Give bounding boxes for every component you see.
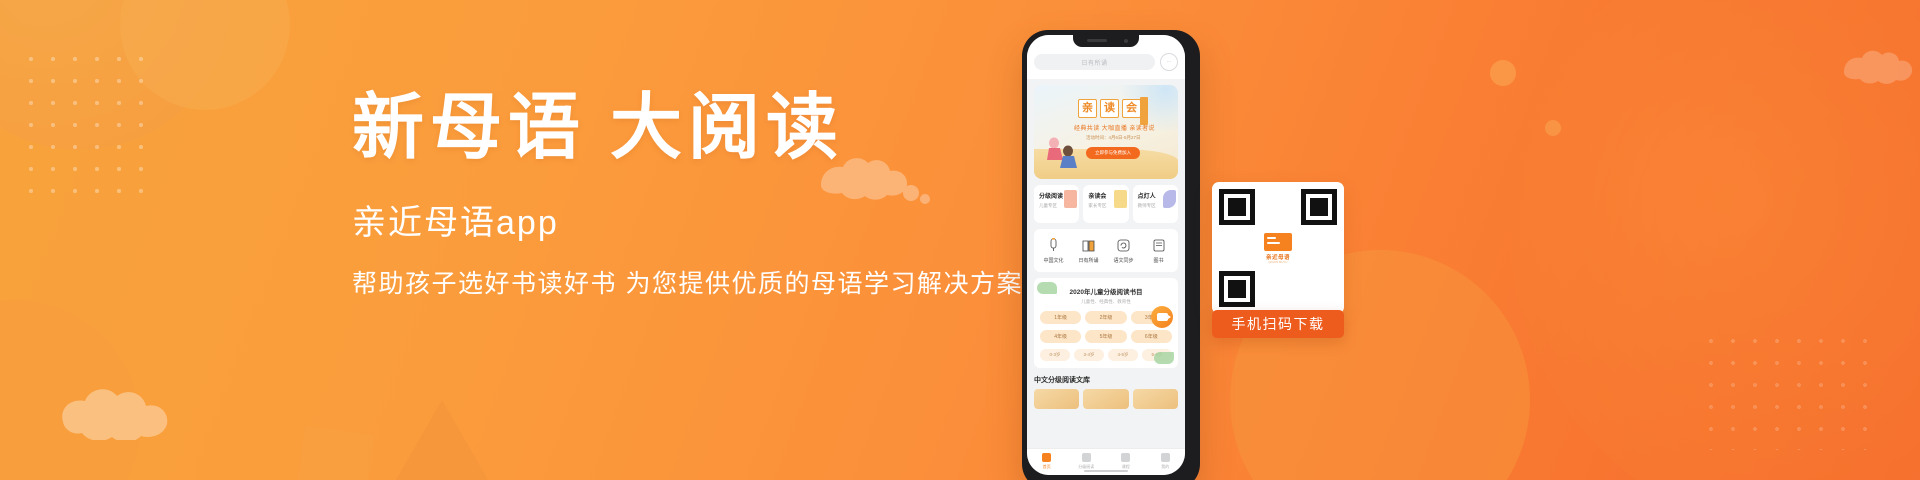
cloud-scroll-bottom-icon [55,370,205,440]
refresh-icon [1106,237,1141,253]
user-icon [1161,453,1170,462]
qr-center-logo: 亲近母语 QINJIN MUYU [1259,230,1297,266]
grade-chip[interactable]: 6年级 [1131,330,1172,343]
quick-nav: 中国文化 日有所诵 语文同步 [1034,229,1178,272]
hero-children-illustration [1040,125,1086,173]
book-open-icon [1071,237,1106,253]
card-decor-icon [1064,190,1077,208]
book-icon [1141,237,1176,253]
qr-finder-top-right [1301,189,1337,225]
decor-dot-grid-left [20,48,152,198]
qr-code-card: 亲近母语 QINJIN MUYU [1212,182,1344,314]
decor-dot-b [1545,120,1561,136]
hero-char-2: 读 [1100,99,1119,118]
qr-finder-top-left [1219,189,1255,225]
tab-mine[interactable]: 我的 [1146,449,1186,475]
message-icon[interactable]: ··· [1160,53,1178,71]
nav-item-chinese-culture[interactable]: 中国文化 [1036,237,1071,264]
copy-block: 新母语 大阅读 亲近母语app 帮助孩子选好书读好书 为您提供优质的母语学习解决… [352,92,1052,297]
qr-logo-en: QINJIN MUYU [1268,261,1287,264]
category-card-list: 分级阅读 儿童专区 亲读会 家长专区 点灯人 教师专区 [1034,185,1178,223]
tab-label: 首页 [1027,464,1067,470]
grade-chip[interactable]: 5年级 [1085,330,1126,343]
qr-logo-name: 亲近母语 [1266,253,1290,261]
card-decor-icon [1163,190,1176,208]
library-card[interactable] [1034,389,1079,409]
home-icon [1042,453,1051,462]
home-indicator [1084,470,1128,473]
grade-chip[interactable]: 4年级 [1040,330,1081,343]
hero-subtitle: 经典共读 大咖直播 亲读者说 [1074,123,1155,132]
age-chip[interactable]: 3-4岁 [1074,349,1104,361]
grade-chip[interactable]: 2年级 [1085,311,1126,324]
nav-label: 日有所诵 [1071,257,1106,264]
leaf-icon [1037,282,1057,294]
download-button-label: 手机扫码下载 [1232,314,1325,334]
app-name-subtitle: 亲近母语app [352,206,1052,240]
tagline: 帮助孩子选好书读好书 为您提供优质的母语学习解决方案 [352,272,1052,297]
library-card[interactable] [1133,389,1178,409]
course-icon [1121,453,1130,462]
leaf-icon [1154,352,1174,364]
promo-banner: 新母语 大阅读 亲近母语app 帮助孩子选好书读好书 为您提供优质的母语学习解决… [0,0,1920,480]
nav-item-books[interactable]: 图书 [1141,237,1176,264]
tab-label: 我的 [1146,464,1186,470]
grid-icon [1082,453,1091,462]
nav-item-textbook-sync[interactable]: 语文同步 [1106,237,1141,264]
tab-home[interactable]: 首页 [1027,449,1067,475]
hero-title: 亲 读 会 [1078,99,1141,118]
library-card[interactable] [1083,389,1128,409]
grade-chip[interactable]: 1年级 [1040,311,1081,324]
category-card-graded-reading[interactable]: 分级阅读 儿童专区 [1034,185,1079,223]
hero-join-button[interactable]: 立即参与免费加入 [1086,147,1140,159]
hero-banner[interactable]: 亲 读 会 经典共读 大咖直播 亲读者说 活动时间：4月6日-5月27日 立即参… [1034,85,1178,179]
hero-ribbon [1140,97,1148,125]
decor-square [295,425,374,480]
qr-code-image: 亲近母语 QINJIN MUYU [1219,189,1337,307]
grade-section-title: 2020年儿童分级阅读书目 [1040,286,1172,296]
nav-label: 图书 [1141,257,1176,264]
search-input[interactable]: 日有所诵 [1034,54,1155,70]
video-play-button[interactable] [1151,306,1173,328]
card-decor-icon [1114,190,1127,208]
decor-dot-a [1490,60,1516,86]
grade-row-2: 4年级 5年级 6年级 [1040,330,1172,343]
hero-char-1: 亲 [1078,99,1097,118]
search-placeholder: 日有所诵 [1081,58,1107,67]
age-chip[interactable]: 0-3岁 [1040,349,1070,361]
video-camera-icon [1157,313,1168,321]
age-row: 0-3岁 3-4岁 4-5岁 5-6岁 [1040,349,1172,361]
grade-booklist-section: 2020年儿童分级阅读书目 儿童性、经典性、教育性 1年级 2年级 3年级 4年… [1034,278,1178,368]
nav-label: 语文同步 [1106,257,1141,264]
nav-item-daily-recitation[interactable]: 日有所诵 [1071,237,1106,264]
download-button[interactable]: 手机扫码下载 [1212,310,1344,338]
hero-date: 活动时间：4月6日-5月27日 [1086,135,1141,141]
age-chip[interactable]: 4-5岁 [1108,349,1138,361]
nav-label: 中国文化 [1036,257,1071,264]
book-logo-icon [1264,233,1292,251]
library-section-title: 中文分级阅读文库 [1034,375,1178,385]
cloud-scroll-corner-icon [1840,40,1920,90]
category-card-reading-club[interactable]: 亲读会 家长专区 [1083,185,1128,223]
lantern-icon [1036,237,1071,253]
hero-char-3: 会 [1122,99,1141,118]
library-card-list [1034,389,1178,409]
category-card-lamplighter[interactable]: 点灯人 教师专区 [1133,185,1178,223]
phone-notch [1073,35,1139,47]
qr-finder-bottom-left [1219,271,1255,307]
decor-triangle [390,400,494,480]
grade-section-subtitle: 儿童性、经典性、教育性 [1040,299,1172,305]
phone-mockup: 日有所诵 ··· 亲 读 会 [1022,30,1200,480]
page-title: 新母语 大阅读 [352,92,1052,164]
decor-dot-grid-right [1700,330,1880,450]
phone-screen: 日有所诵 ··· 亲 读 会 [1027,35,1185,475]
